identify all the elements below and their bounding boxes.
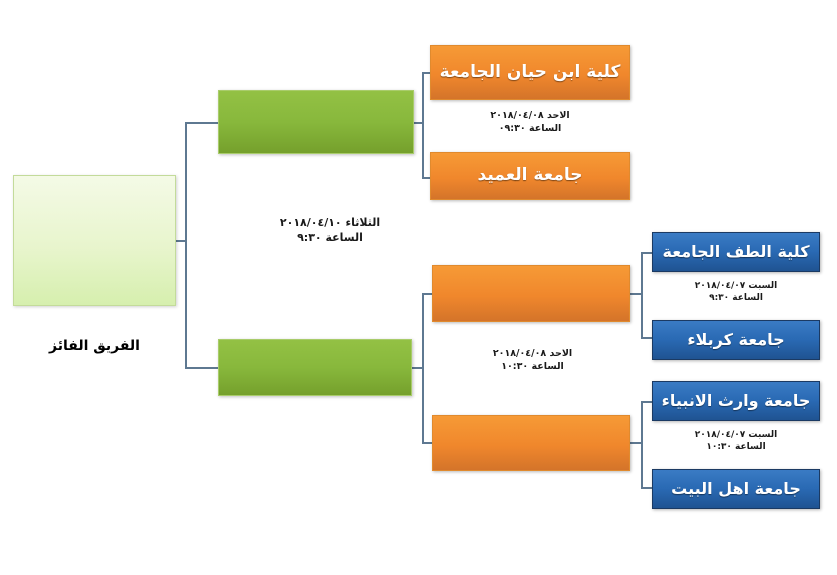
quarterfinal-1-match-date: السبت ٢٠١٨/٠٤/٠٧ (655, 280, 817, 292)
bracket-canvas: الفريق الفائز الثلاثاء ٢٠١٨/٠٤/١٠ الساعة… (0, 0, 837, 575)
semifinal-1-team-2[interactable]: جامعة العميد (430, 152, 630, 200)
connector-final-top-arm (185, 122, 219, 124)
connector-quarterfinal-top-vertical (641, 252, 643, 338)
quarterfinal-2-team-1-label: جامعة وارث الانبياء (656, 392, 817, 410)
semifinal-1-team-2-label: جامعة العميد (472, 166, 589, 186)
quarterfinal-1-team-1[interactable]: كلية الطف الجامعة (652, 232, 820, 272)
quarterfinal-1-match-time: الساعة ٩:٣٠ (655, 292, 817, 304)
quarterfinal-1-team-2-label: جامعة كربلاء (681, 331, 790, 349)
semifinal-1-team-1[interactable]: كلية ابن حيان الجامعة (430, 45, 630, 100)
quarterfinal-2-team-2-label: جامعة اهل البيت (665, 480, 807, 498)
connector-final-bottom-arm (185, 367, 219, 369)
connector-semifinal-top-vertical (422, 72, 424, 178)
quarterfinal-1-match-info: السبت ٢٠١٨/٠٤/٠٧ الساعة ٩:٣٠ (655, 280, 817, 304)
semifinal-1-match-time: الساعة ٠٩:٣٠ (455, 123, 605, 136)
final-match-time: الساعة ٩:٣٠ (245, 231, 415, 246)
connector-orange-bottom-stub (630, 442, 642, 444)
final-slot-bottom[interactable] (218, 339, 412, 396)
quarterfinal-1-team-1-label: كلية الطف الجامعة (657, 243, 816, 261)
connector-final-vertical (185, 122, 187, 368)
semifinal-1-match-info: الاحد ٢٠١٨/٠٤/٠٨ الساعة ٠٩:٣٠ (455, 110, 605, 136)
quarterfinal-2-team-2[interactable]: جامعة اهل البيت (652, 469, 820, 509)
final-match-date: الثلاثاء ٢٠١٨/٠٤/١٠ (245, 216, 415, 231)
semifinal-1-team-1-label: كلية ابن حيان الجامعة (434, 63, 627, 83)
quarterfinal-2-match-info: السبت ٢٠١٨/٠٤/٠٧ الساعة ١٠:٣٠ (655, 429, 817, 453)
connector-orange-top-stub (630, 293, 642, 295)
champion-caption: الفريق الفائز (13, 338, 176, 354)
semifinal-2-match-time: الساعة ١٠:٣٠ (455, 361, 610, 374)
quarterfinal-2-match-date: السبت ٢٠١٨/٠٤/٠٧ (655, 429, 817, 441)
semifinal-1-match-date: الاحد ٢٠١٨/٠٤/٠٨ (455, 110, 605, 123)
semifinal-2-match-info: الاحد ٢٠١٨/٠٤/٠٨ الساعة ١٠:٣٠ (455, 348, 610, 374)
semifinal-2-slot-2[interactable] (432, 415, 630, 471)
connector-green-bottom-stub (412, 367, 423, 369)
quarterfinal-1-team-2[interactable]: جامعة كربلاء (652, 320, 820, 360)
champion-slot[interactable] (13, 175, 176, 306)
quarterfinal-2-match-time: الساعة ١٠:٣٠ (655, 441, 817, 453)
final-slot-top[interactable] (218, 90, 414, 154)
connector-quarterfinal-bottom-vertical (641, 401, 643, 487)
semifinal-2-match-date: الاحد ٢٠١٨/٠٤/٠٨ (455, 348, 610, 361)
quarterfinal-2-team-1[interactable]: جامعة وارث الانبياء (652, 381, 820, 421)
final-match-info: الثلاثاء ٢٠١٨/٠٤/١٠ الساعة ٩:٣٠ (245, 216, 415, 246)
semifinal-2-slot-1[interactable] (432, 265, 630, 322)
